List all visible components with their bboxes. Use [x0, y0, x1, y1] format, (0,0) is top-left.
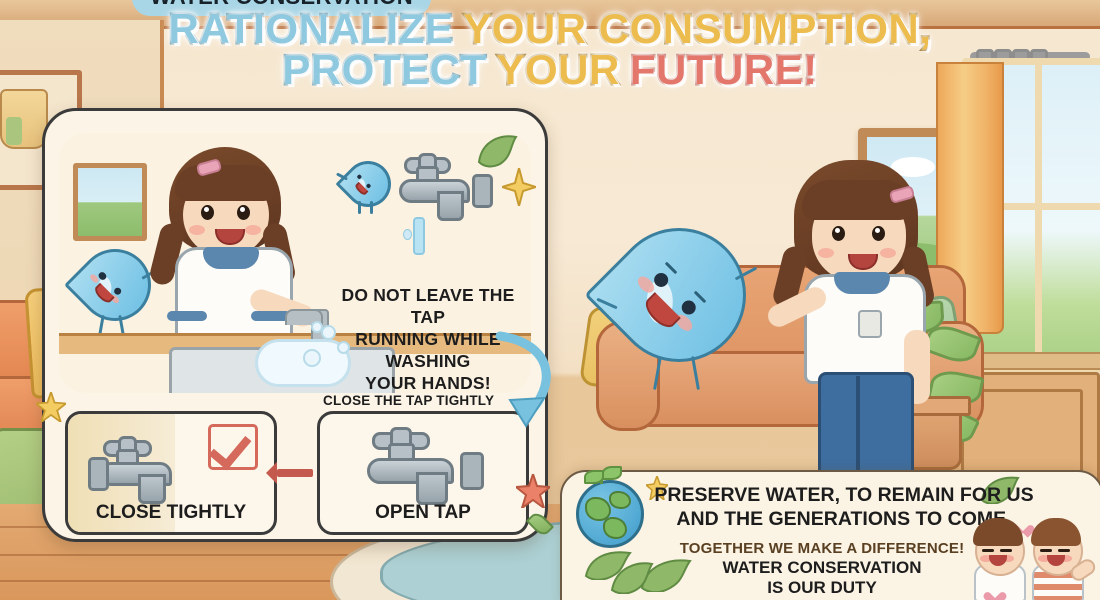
- close-tap-caption: CLOSE THE TAP TIGHTLY: [323, 393, 494, 408]
- kids-illustration: [968, 522, 1094, 600]
- title-line-2: PROTECTYOURFUTURE!: [0, 49, 1100, 90]
- open-tap-label: OPEN TAP: [320, 502, 526, 524]
- close-tightly-label: CLOSE TIGHTLY: [68, 502, 274, 524]
- poster-root: RATIONALIZEYOUR CONSUMPTION, PROTECTYOUR…: [0, 0, 1100, 600]
- water-drop-mascot: [612, 228, 740, 356]
- water-stream: [413, 217, 425, 255]
- star-icon: [502, 168, 536, 206]
- curved-arrow-icon: [492, 330, 562, 440]
- water-droplet: [403, 229, 412, 240]
- star-icon: [516, 474, 550, 508]
- leaf-icon: [610, 560, 654, 594]
- jar-decor: [0, 89, 48, 149]
- leaf-icon: [476, 134, 518, 168]
- mini-framed-picture: [73, 163, 147, 241]
- title-word-protect: PROTECT: [282, 49, 486, 90]
- title-word-rationalize: RATIONALIZE: [169, 8, 454, 49]
- uniform-badge: [858, 310, 882, 338]
- handwashing-scene: DO NOT LEAVE THE TAP RUNNING WHILE WASHI…: [59, 133, 531, 393]
- water-drop-mascot-small: [79, 249, 145, 315]
- faucet-icon-closed: [88, 440, 196, 506]
- room-girl: [760, 160, 970, 490]
- message-sub-lines: WATER CONSERVATION IS OUR DUTY: [672, 558, 972, 599]
- faucet-icon-open: [354, 432, 484, 508]
- message-sub-line-2: WATER CONSERVATION: [672, 558, 972, 578]
- star-icon: [36, 392, 66, 422]
- title-line-1: RATIONALIZEYOUR CONSUMPTION,: [0, 8, 1100, 49]
- water-drop-mascot-tiny: [345, 161, 385, 201]
- tip-line-1: DO NOT LEAVE THE TAP: [325, 285, 531, 329]
- message-sub-line-1: TOGETHER WE MAKE A DIFFERENCE!: [672, 540, 972, 557]
- title-word-future: FUTURE!: [630, 49, 818, 90]
- water-conservation-card: DO NOT LEAVE THE TAP RUNNING WHILE WASHI…: [42, 108, 548, 542]
- girl-washing-hands: [145, 147, 325, 357]
- step-panel-close-tightly: CLOSE TIGHTLY: [65, 411, 277, 535]
- title-word-your-consumption: YOUR CONSUMPTION,: [463, 8, 931, 49]
- checkmark-icon: [208, 424, 258, 470]
- poster-title: RATIONALIZEYOUR CONSUMPTION, PROTECTYOUR…: [0, 8, 1100, 90]
- title-word-your: YOUR: [497, 49, 620, 90]
- sprout-icon: [600, 470, 603, 484]
- message-sub-line-3: IS OUR DUTY: [672, 578, 972, 598]
- heart-hands-icon: [988, 587, 1002, 600]
- earth-globe-icon: [576, 480, 644, 548]
- message-headline-line-1: PRESERVE WATER, TO REMAIN FOR US: [646, 484, 1042, 508]
- arrow-left-icon: [277, 469, 313, 477]
